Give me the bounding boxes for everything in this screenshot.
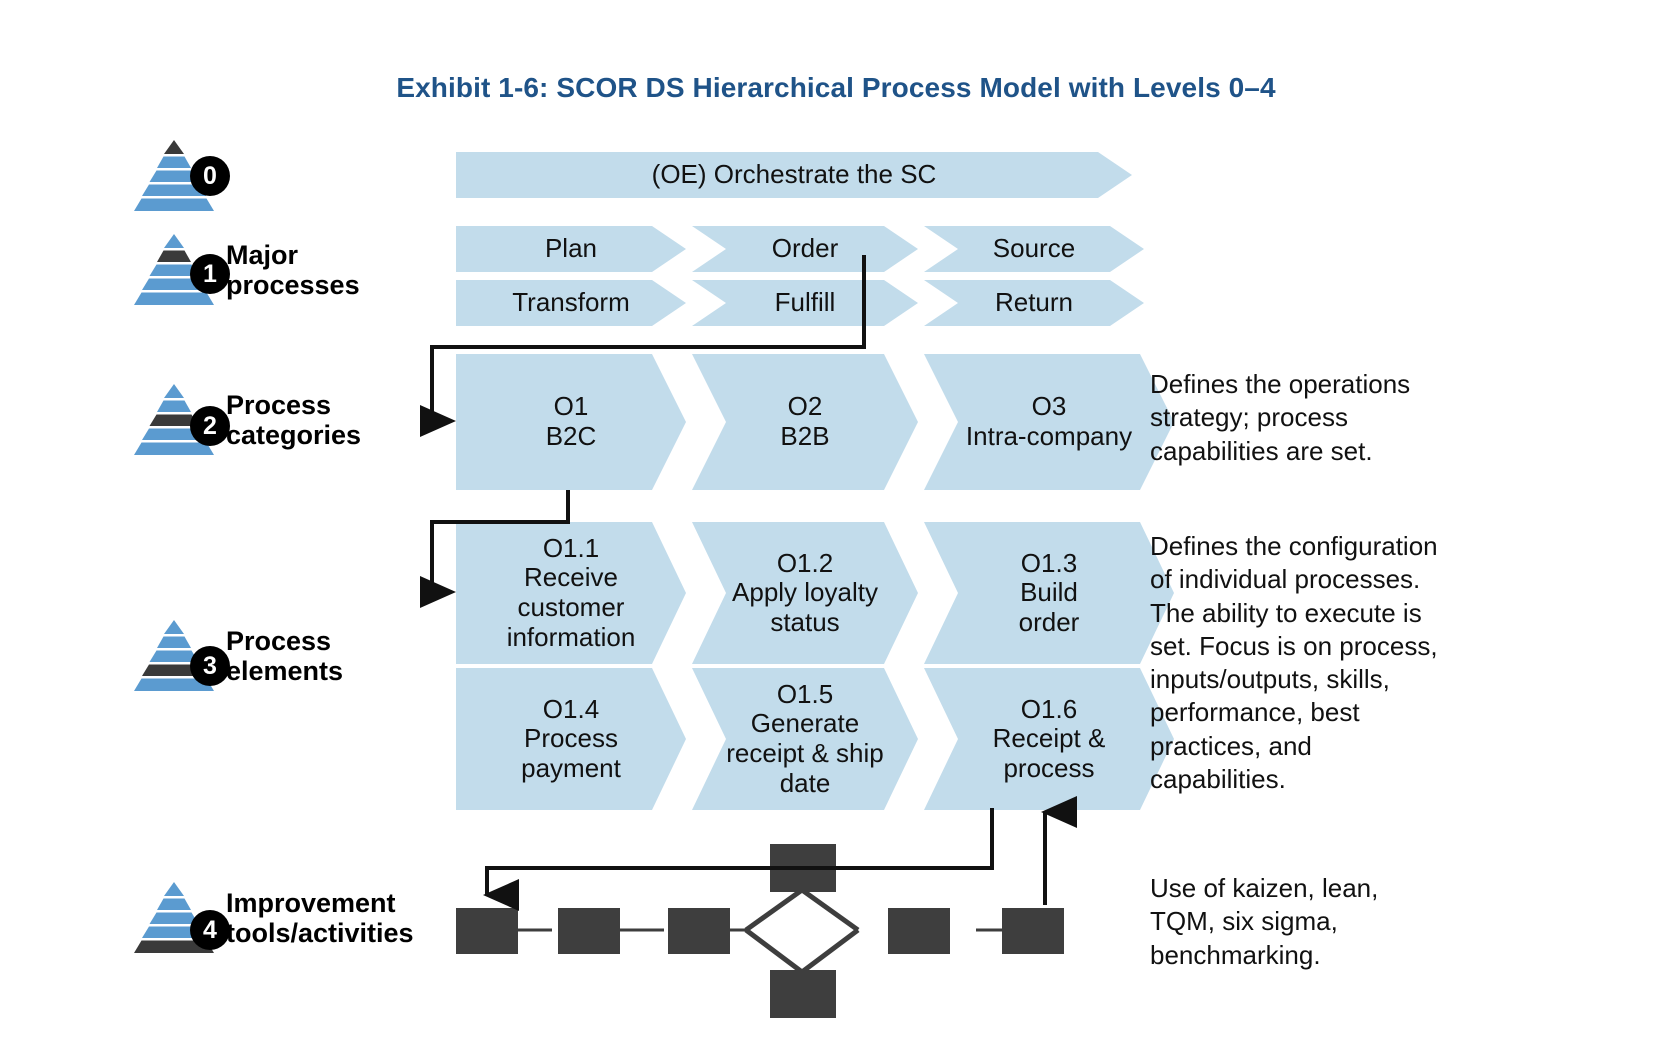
chevron-label: Source (985, 234, 1083, 264)
band-level-0: (OE) Orchestrate the SC (456, 152, 1132, 198)
flow-node-1[interactable] (456, 908, 518, 954)
flow-node-2[interactable] (558, 908, 620, 954)
chevron-label: O2 B2B (772, 392, 837, 451)
chevron-order[interactable]: Order (692, 226, 918, 272)
chevron-label: O1.3 Build order (1011, 549, 1088, 638)
level-badge-4: 4 (190, 910, 230, 950)
improvement-tools-flowchart (440, 820, 1140, 1060)
chevron-plan[interactable]: Plan (456, 226, 686, 272)
chevron-label: Order (764, 234, 846, 264)
level-label-4: Improvement tools/activities (226, 888, 414, 948)
chevron-o1-3-build-order[interactable]: O1.3 Build order (924, 522, 1174, 664)
level-row-1: 1 Major processes (132, 232, 360, 308)
description-level-2: Defines the operations strategy; process… (1150, 368, 1570, 468)
flow-node-3[interactable] (668, 908, 730, 954)
chevron-label: Fulfill (767, 288, 844, 318)
description-level-3: Defines the configuration of individual … (1150, 530, 1570, 796)
flow-node-4-bottom[interactable] (770, 970, 836, 1018)
band-level-1-row-1: Plan Order Source (456, 226, 1144, 272)
chevron-label: Return (987, 288, 1081, 318)
chevron-label: O1.4 Process payment (513, 695, 629, 784)
level-label-2: Process categories (226, 390, 361, 450)
chevron-label: Transform (504, 288, 638, 318)
chevron-label: O1.5 Generate receipt & ship date (718, 680, 892, 799)
flow-diamond-arms (746, 890, 858, 972)
band-level-3-row-1: O1.1 Receive customer information O1.2 A… (456, 522, 1174, 664)
chevron-label: O1.2 Apply loyalty status (724, 549, 886, 638)
chevron-o1-4-process-payment[interactable]: O1.4 Process payment (456, 668, 686, 810)
chevron-label: O1.6 Receipt & process (985, 695, 1114, 784)
level-row-3: 3 Process elements (132, 618, 343, 694)
flow-node-4-top[interactable] (770, 844, 836, 892)
chevron-transform[interactable]: Transform (456, 280, 686, 326)
level-label-1: Major processes (226, 240, 360, 300)
level-row-4: 4 Improvement tools/activities (132, 880, 414, 956)
level-badge-0: 0 (190, 156, 230, 196)
page-title: Exhibit 1-6: SCOR DS Hierarchical Proces… (0, 72, 1672, 104)
flow-node-6[interactable] (1002, 908, 1064, 954)
chevron-o1-6-receipt-process[interactable]: O1.6 Receipt & process (924, 668, 1174, 810)
band-level-1-row-2: Transform Fulfill Return (456, 280, 1144, 326)
level-row-0: 0 (132, 138, 260, 214)
chevron-label: O1 B2C (538, 392, 605, 451)
chevron-o1-5-generate-receipt-ship-date[interactable]: O1.5 Generate receipt & ship date (692, 668, 918, 810)
level-badge-1: 1 (190, 254, 230, 294)
chevron-orchestrate-sc[interactable]: (OE) Orchestrate the SC (456, 152, 1132, 198)
chevron-o2-b2b[interactable]: O2 B2B (692, 354, 918, 490)
chevron-o3-intra-company[interactable]: O3 Intra-company (924, 354, 1174, 490)
band-level-2: O1 B2C O2 B2B O3 Intra-company (456, 354, 1174, 490)
chevron-label: Plan (537, 234, 605, 264)
description-level-4: Use of kaizen, lean, TQM, six sigma, ben… (1150, 872, 1570, 972)
level-badge-3: 3 (190, 646, 230, 686)
chevron-label: O1.1 Receive customer information (499, 534, 644, 653)
chevron-o1-1-receive-customer-information[interactable]: O1.1 Receive customer information (456, 522, 686, 664)
chevron-o1-b2c[interactable]: O1 B2C (456, 354, 686, 490)
chevron-fulfill[interactable]: Fulfill (692, 280, 918, 326)
level-row-2: 2 Process categories (132, 382, 361, 458)
flow-node-5[interactable] (888, 908, 950, 954)
chevron-label: O3 Intra-company (958, 392, 1140, 451)
level-label-3: Process elements (226, 626, 343, 686)
chevron-source[interactable]: Source (924, 226, 1144, 272)
level-badge-2: 2 (190, 406, 230, 446)
chevron-label: (OE) Orchestrate the SC (644, 160, 945, 190)
chevron-return[interactable]: Return (924, 280, 1144, 326)
band-level-3-row-2: O1.4 Process payment O1.5 Generate recei… (456, 668, 1174, 810)
chevron-o1-2-apply-loyalty-status[interactable]: O1.2 Apply loyalty status (692, 522, 918, 664)
